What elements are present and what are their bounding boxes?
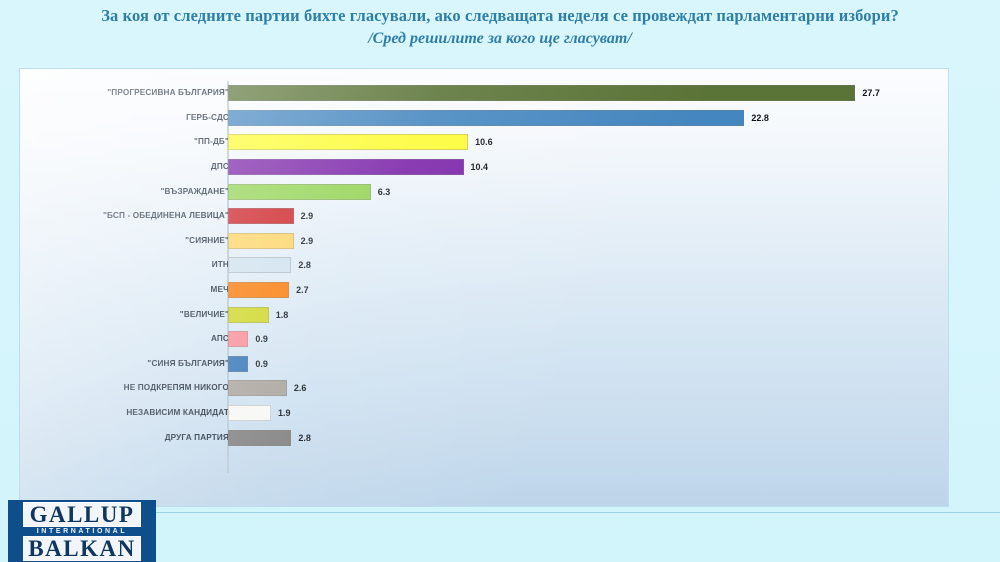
category-label: "БСП - ОБЕДИНЕНА ЛЕВИЦА" (19, 211, 229, 221)
chart-row: МЕЧ2.7 (20, 278, 948, 303)
chart-panel: "ПРОГРЕСИВНА БЪЛГАРИЯ"27.7ГЕРБ-СДС22.8"П… (20, 69, 948, 506)
bar (228, 307, 269, 323)
bar-value-label: 10.6 (475, 137, 493, 147)
bar-group: 2.9 (228, 204, 313, 229)
category-label: МЕЧ (19, 285, 229, 295)
chart-row: НЕЗАВИСИМ КАНДИДАТ1.9 (20, 401, 948, 426)
chart-row: "ВЪЗРАЖДАНЕ"6.3 (20, 179, 948, 204)
bar-group: 2.6 (228, 376, 306, 401)
bar (228, 331, 248, 347)
bar (228, 208, 294, 224)
chart-row: "СИЯНИЕ"2.9 (20, 229, 948, 254)
chart-row: "БСП - ОБЕДИНЕНА ЛЕВИЦА"2.9 (20, 204, 948, 229)
bar-group: 2.9 (228, 229, 313, 254)
bar (228, 110, 744, 126)
bar (228, 184, 371, 200)
category-label: "ПРОГРЕСИВНА БЪЛГАРИЯ" (19, 88, 229, 98)
bar (228, 380, 287, 396)
category-label: ИТН (19, 260, 229, 270)
logo-balkan-text: BALKAN (23, 536, 140, 561)
bar-value-label: 10.4 (471, 162, 489, 172)
chart-row: АПС0.9 (20, 327, 948, 352)
bar-group: 0.9 (228, 352, 268, 377)
bar (228, 233, 294, 249)
category-label: "СИНЯ БЪЛГАРИЯ" (19, 359, 229, 369)
logo-international-text: INTERNATIONAL (23, 528, 140, 535)
bar (228, 356, 248, 372)
chart-row: "СИНЯ БЪЛГАРИЯ"0.9 (20, 352, 948, 377)
category-label: ГЕРБ-СДС (19, 113, 229, 123)
chart-row: НЕ ПОДКРЕПЯМ НИКОГО2.6 (20, 376, 948, 401)
bar-chart-plot: "ПРОГРЕСИВНА БЪЛГАРИЯ"27.7ГЕРБ-СДС22.8"П… (20, 69, 948, 506)
category-label: ДРУГА ПАРТИЯ (19, 433, 229, 443)
category-label: "ВЪЗРАЖДАНЕ" (19, 187, 229, 197)
bar (228, 430, 291, 446)
bar-value-label: 2.9 (301, 236, 314, 246)
bar-group: 0.9 (228, 327, 268, 352)
page-title: За коя от следните партии бихте гласувал… (0, 6, 1000, 26)
bar (228, 159, 464, 175)
chart-row: ИТН2.8 (20, 253, 948, 278)
bar (228, 282, 289, 298)
category-label: "ПП-ДБ" (19, 137, 229, 147)
bar-value-label: 27.7 (862, 88, 880, 98)
bar-group: 2.7 (228, 278, 309, 303)
bar-group: 2.8 (228, 425, 311, 450)
category-label: "ВЕЛИЧИЕ" (19, 310, 229, 320)
bar-value-label: 2.9 (301, 211, 314, 221)
chart-row: ДПС10.4 (20, 155, 948, 180)
bar-group: 1.9 (228, 401, 291, 426)
category-label: НЕЗАВИСИМ КАНДИДАТ (19, 408, 229, 418)
bar-value-label: 0.9 (255, 359, 268, 369)
bar (228, 257, 291, 273)
logo-gallup-text: GALLUP (23, 502, 140, 527)
bar-group: 22.8 (228, 106, 769, 131)
gallup-logo-inner: GALLUP INTERNATIONAL BALKAN (23, 502, 140, 561)
bar-group: 27.7 (228, 81, 880, 106)
bar-group: 10.4 (228, 155, 488, 180)
bar (228, 85, 855, 101)
chart-row: "ВЕЛИЧИЕ"1.8 (20, 302, 948, 327)
bar-value-label: 22.8 (751, 113, 769, 123)
slide-canvas: За коя от следните партии бихте гласувал… (0, 0, 1000, 562)
bar (228, 405, 271, 421)
page-subtitle: /Сред решилите за кого ще гласуват/ (0, 28, 1000, 50)
chart-row: ДРУГА ПАРТИЯ2.8 (20, 425, 948, 450)
category-label: "СИЯНИЕ" (19, 236, 229, 246)
bar-value-label: 1.8 (276, 310, 289, 320)
bar-group: 2.8 (228, 253, 311, 278)
bar-group: 6.3 (228, 179, 390, 204)
title-block: За коя от следните партии бихте гласувал… (0, 6, 1000, 50)
footer-divider (156, 512, 1000, 513)
bar-value-label: 2.8 (298, 260, 311, 270)
bar (228, 134, 468, 150)
chart-row: ГЕРБ-СДС22.8 (20, 106, 948, 131)
bar-value-label: 1.9 (278, 408, 291, 418)
chart-row: "ПРОГРЕСИВНА БЪЛГАРИЯ"27.7 (20, 81, 948, 106)
bar-value-label: 0.9 (255, 334, 268, 344)
category-label: ДПС (19, 162, 229, 172)
bar-value-label: 2.6 (294, 383, 307, 393)
bar-value-label: 2.8 (298, 433, 311, 443)
gallup-logo: GALLUP INTERNATIONAL BALKAN (8, 500, 156, 562)
bar-group: 10.6 (228, 130, 493, 155)
bar-group: 1.8 (228, 302, 288, 327)
category-label: НЕ ПОДКРЕПЯМ НИКОГО (19, 383, 229, 393)
bar-value-label: 2.7 (296, 285, 309, 295)
chart-row: "ПП-ДБ"10.6 (20, 130, 948, 155)
bar-value-label: 6.3 (378, 187, 391, 197)
category-label: АПС (19, 334, 229, 344)
